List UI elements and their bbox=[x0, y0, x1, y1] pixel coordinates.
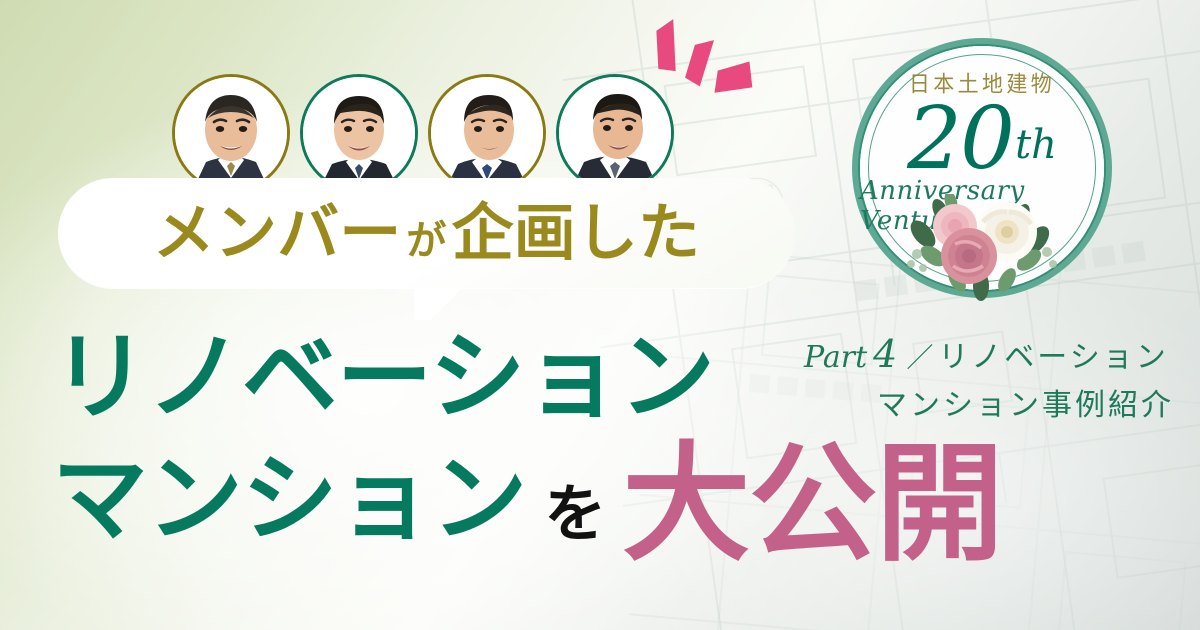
part-caption-text-1: リノベーション bbox=[938, 332, 1168, 376]
logo-ordinal: th bbox=[1015, 122, 1057, 168]
avatar[interactable] bbox=[300, 74, 418, 192]
headline-accent: 大公開 bbox=[622, 446, 1002, 564]
logo-company-name: 日本土地建物 bbox=[909, 67, 1055, 99]
part-separator: ／ bbox=[906, 336, 938, 375]
part-caption-line-1: Part 4 ／ リノベーション bbox=[804, 332, 1174, 376]
speech-bubble-text: メンバー が 企画した bbox=[153, 202, 700, 264]
logo-number: 20 bbox=[907, 96, 1013, 182]
member-avatar-row bbox=[172, 74, 674, 192]
headline-line-1: リノベーション bbox=[52, 326, 714, 430]
headline-line-2-main: マンション bbox=[52, 448, 526, 552]
part-number: 4 bbox=[871, 335, 906, 373]
speech-bubble: メンバー が 企画した bbox=[58, 178, 795, 288]
part-caption: Part 4 ／ リノベーション マンション事例紹介 bbox=[804, 332, 1174, 424]
headline-particle: を bbox=[526, 483, 622, 551]
headline-row-2: マンション を 大公開 bbox=[52, 434, 1002, 552]
burst-marks bbox=[640, 2, 760, 97]
part-caption-line-2: マンション事例紹介 bbox=[804, 380, 1174, 424]
part-word: Part bbox=[804, 340, 871, 375]
avatar[interactable] bbox=[172, 74, 290, 192]
bouquet-icon bbox=[897, 194, 1067, 304]
bubble-tail-text: 企画した bbox=[452, 202, 701, 264]
banner-canvas: メンバー が 企画した リノベーション マンション を 大公開 日本土地建物 2… bbox=[0, 0, 1200, 630]
avatar[interactable] bbox=[428, 74, 546, 192]
bubble-lead-text: メンバー bbox=[153, 202, 402, 264]
anniversary-logo: 日本土地建物 20 th Anniversary Venture bbox=[860, 46, 1104, 290]
speech-bubble-tail bbox=[414, 286, 464, 320]
bubble-particle-text: が bbox=[401, 221, 451, 261]
logo-number-group: 20 th bbox=[907, 96, 1057, 182]
